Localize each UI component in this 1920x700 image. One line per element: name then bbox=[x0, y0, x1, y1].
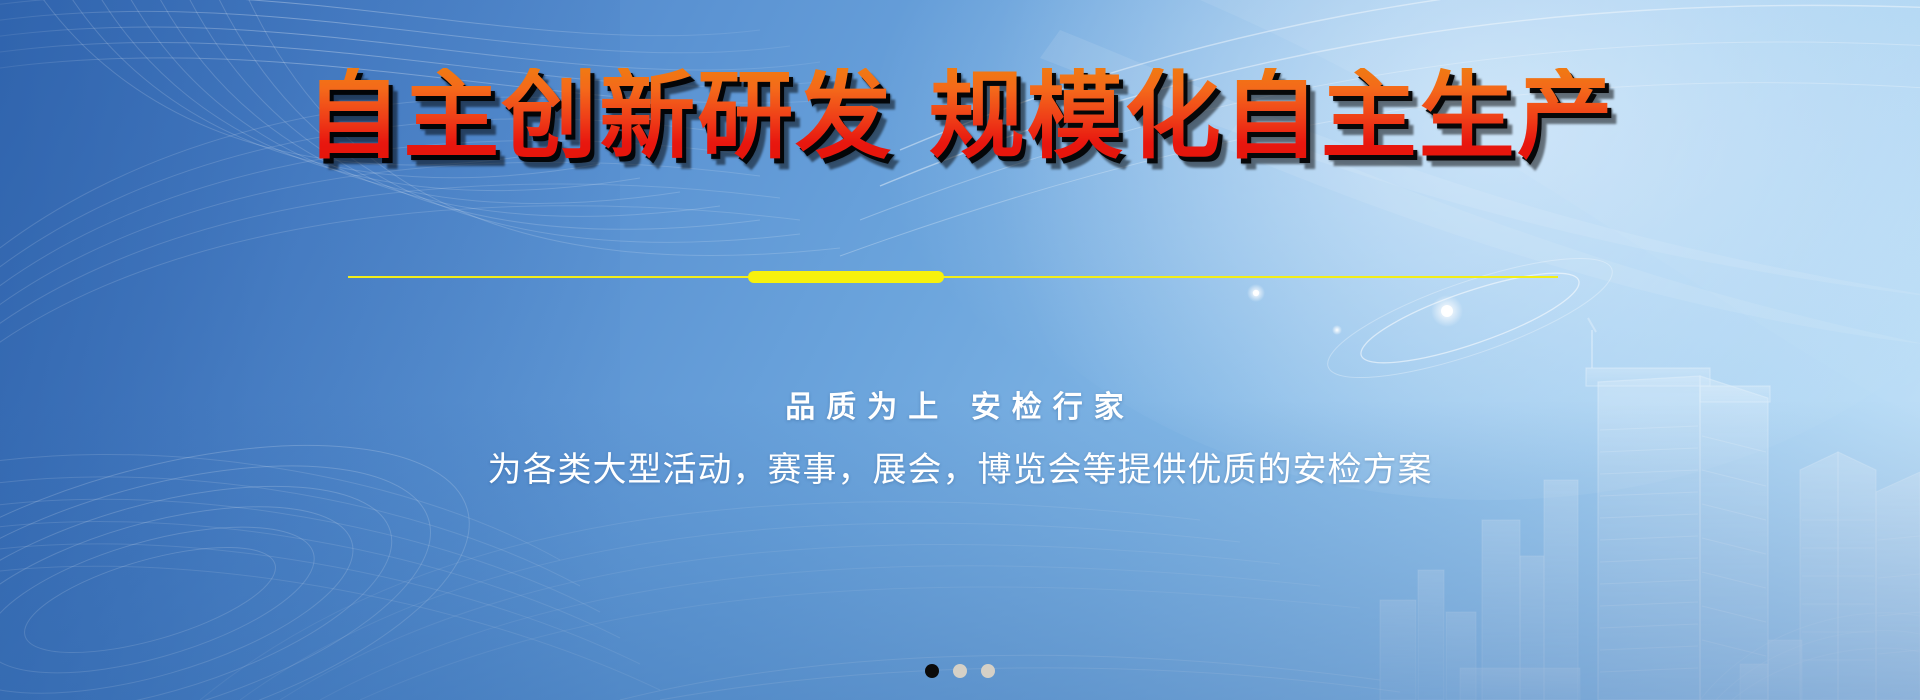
hero-banner: 自主创新研发 规模化自主生产 品质为上 安检行家 为各类大型活动，赛事，展会，博… bbox=[0, 0, 1920, 700]
carousel-dot-3[interactable] bbox=[981, 664, 995, 678]
divider-thin-line bbox=[348, 276, 1558, 278]
divider-thick-segment bbox=[748, 271, 944, 283]
subtitle-primary: 品质为上 安检行家 bbox=[0, 382, 1920, 426]
light-spark-icon bbox=[1431, 295, 1463, 327]
carousel-dots bbox=[0, 664, 1920, 678]
headline-container: 自主创新研发 规模化自主生产 bbox=[0, 68, 1920, 164]
city-skyline-silhouette-icon bbox=[1380, 318, 1920, 700]
subtitle-secondary: 为各类大型活动，赛事，展会，博览会等提供优质的安检方案 bbox=[0, 442, 1920, 491]
page-title: 自主创新研发 规模化自主生产 bbox=[305, 68, 1614, 164]
carousel-dot-1[interactable] bbox=[925, 664, 939, 678]
yellow-divider-rule-icon bbox=[0, 266, 1920, 288]
carousel-dot-2[interactable] bbox=[953, 664, 967, 678]
